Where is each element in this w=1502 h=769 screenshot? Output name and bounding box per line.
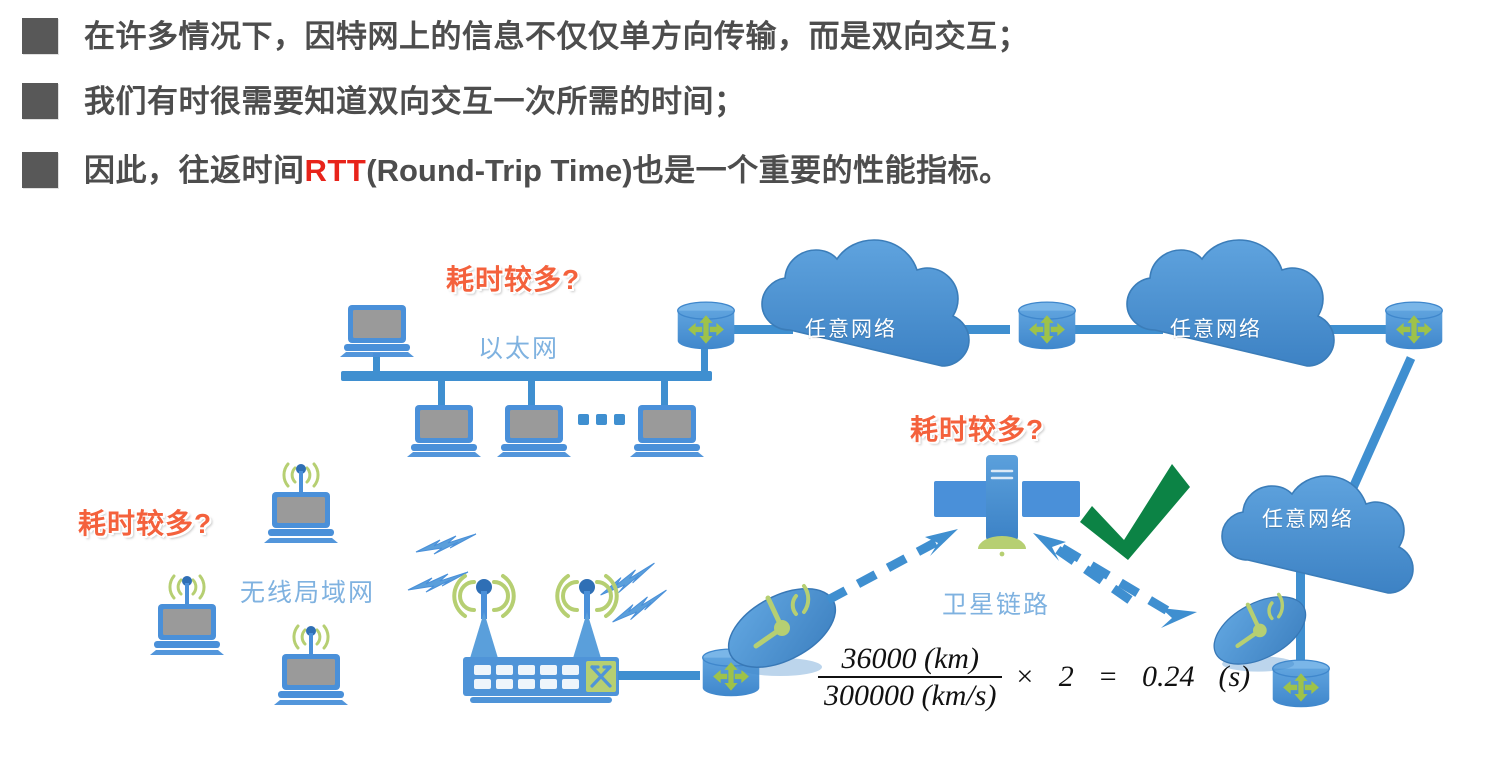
formula-fraction: 36000 (km) 300000 (km/s) — [818, 643, 1002, 711]
cloud-2-label: 任意网络 — [1170, 313, 1262, 343]
rtt-formula: 36000 (km) 300000 (km/s) × 2 = 0.24 (s) — [818, 643, 1262, 711]
formula-equals: = — [1098, 660, 1118, 694]
callout-ethernet: 耗时较多? — [446, 258, 580, 298]
label-wireless-lan: 无线局域网 — [240, 573, 375, 609]
slide-canvas: 在许多情况下，因特网上的信息不仅仅单方向传输，而是双向交互； 我们有时很需要知道… — [0, 0, 1502, 769]
formula-unit: (s) — [1218, 660, 1250, 694]
signal-bolt-icon — [596, 563, 659, 597]
formula-result: 0.24 — [1142, 660, 1195, 694]
formula-denominator: 300000 (km/s) — [818, 676, 1002, 712]
wifi-laptop-icon — [150, 576, 224, 655]
satellite-downlink-dashes — [1062, 548, 1168, 611]
label-satellite-link: 卫星链路 — [942, 585, 1050, 621]
network-diagram: 耗时较多? 耗时较多? 耗时较多? 以太网 无线局域网 卫星链路 任意网络 任意… — [0, 0, 1502, 769]
ethernet-segment — [340, 305, 712, 457]
cloud-2 — [1127, 240, 1334, 366]
label-ethernet: 以太网 — [478, 329, 559, 365]
laptop-icon — [630, 405, 704, 457]
signal-bolt-icon — [416, 534, 476, 554]
wireless-switch — [454, 576, 700, 703]
cloud-3-label: 任意网络 — [1262, 503, 1354, 533]
callout-wlan: 耗时较多? — [78, 502, 212, 542]
formula-multiplier: 2 — [1059, 660, 1074, 694]
callout-satellite: 耗时较多? — [910, 408, 1044, 448]
router-icon — [1019, 302, 1076, 349]
wifi-laptop-icon — [274, 626, 348, 705]
wifi-laptop-icon — [264, 464, 338, 543]
checkmark-icon — [1080, 464, 1190, 560]
formula-multiply-symbol: × — [1014, 660, 1034, 694]
ellipsis-dots — [578, 414, 625, 425]
laptop-icon — [407, 405, 481, 457]
router-icon — [678, 302, 735, 349]
laptop-icon — [340, 305, 414, 357]
laptop-icon — [497, 405, 571, 457]
cloud-1 — [762, 240, 969, 366]
cloud-3 — [1222, 476, 1413, 593]
cloud-1-label: 任意网络 — [805, 313, 897, 343]
router-icon — [1386, 302, 1443, 349]
formula-numerator: 36000 (km) — [836, 643, 985, 676]
diagram-vector-canvas — [0, 0, 1502, 769]
